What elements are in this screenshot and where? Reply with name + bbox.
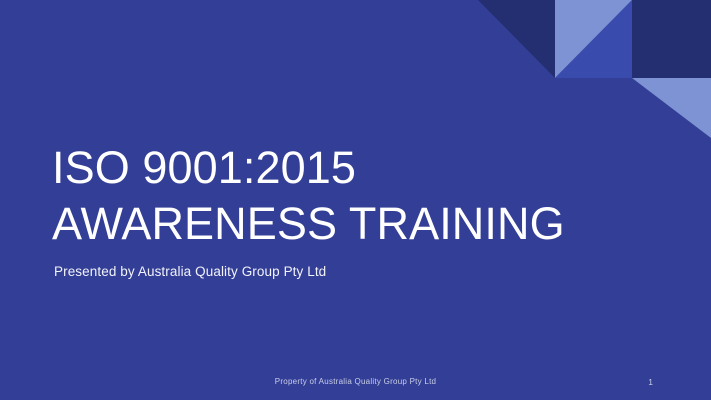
mid-blue-lower-triangle-shape: [555, 0, 632, 78]
light-blue-lower-right-triangle-shape: [632, 78, 711, 138]
page-title-line-2: AWARENESS TRAINING: [52, 196, 652, 252]
slide-footer: Property of Australia Quality Group Pty …: [0, 376, 711, 392]
presentation-slide: ISO 9001:2015 AWARENESS TRAINING Present…: [0, 0, 711, 400]
page-subtitle: Presented by Australia Quality Group Pty…: [54, 263, 652, 281]
footer-copyright-text: Property of Australia Quality Group Pty …: [0, 376, 711, 388]
light-blue-upper-triangle-shape: [555, 0, 632, 78]
title-block: ISO 9001:2015 AWARENESS TRAINING Present…: [52, 140, 652, 281]
dark-navy-diagonal-wedge-shape: [478, 0, 555, 78]
slide-page-number: 1: [648, 376, 653, 388]
page-title-line-1: ISO 9001:2015: [52, 140, 652, 196]
dark-navy-square-shape: [632, 0, 711, 78]
geometric-decoration: [471, 0, 711, 145]
